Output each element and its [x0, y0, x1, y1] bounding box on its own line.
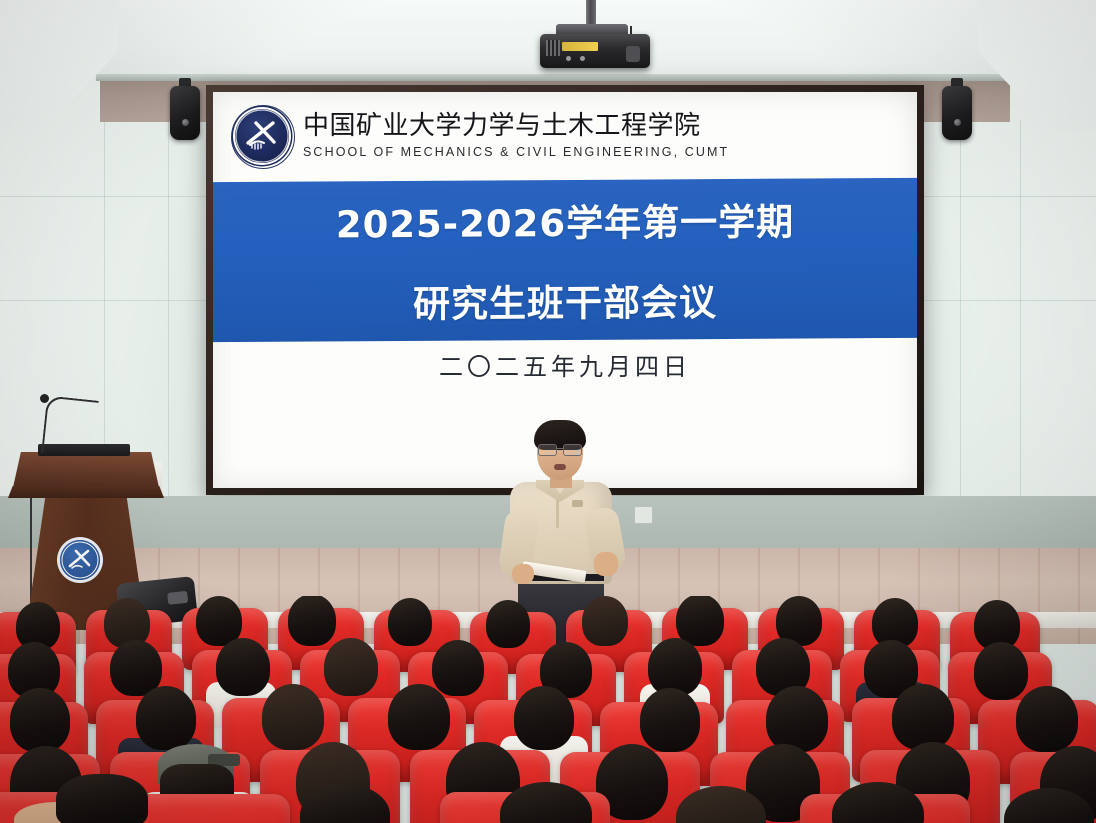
projector-lens — [626, 46, 640, 62]
slide-date: 二〇二五年九月四日 — [213, 347, 917, 382]
slide-title-line1: 2025-2026学年第一学期 — [336, 192, 794, 249]
microphone-head — [40, 394, 49, 403]
presenter-right-hand — [594, 552, 618, 576]
cumt-emblem-icon — [60, 540, 100, 580]
wall-outlet-plate — [634, 506, 653, 524]
organization-name-en: SCHOOL OF MECHANICS & CIVIL ENGINEERING,… — [303, 146, 729, 159]
presenter-shirt-placket — [556, 498, 559, 528]
audience-head — [892, 684, 954, 750]
wall-speaker-right-icon — [942, 86, 972, 140]
audience-head — [766, 686, 828, 752]
audience-head — [10, 688, 70, 752]
cumt-crest-icon — [235, 109, 289, 163]
slide-title-line2: 研究生班干部会议 — [413, 272, 717, 328]
audience-head — [288, 596, 336, 646]
audience-head — [582, 596, 628, 646]
wall-seam — [924, 196, 1096, 197]
projector-label — [562, 42, 598, 51]
audience-head — [486, 600, 530, 648]
wall-seam — [0, 196, 206, 197]
eyeglasses-icon — [538, 444, 582, 454]
audience-head — [216, 638, 270, 696]
wall-seam — [924, 300, 1096, 301]
audience-head — [1016, 686, 1078, 752]
wall-speaker-left-icon — [170, 86, 200, 140]
projector-indicator — [580, 56, 585, 61]
slide-header: 中国矿业大学力学与土木工程学院 SCHOOL OF MECHANICS & CI… — [213, 92, 917, 180]
soffit-lip — [96, 74, 1016, 81]
audience-head — [514, 686, 574, 750]
glasses-left-lens — [538, 444, 557, 456]
audience-head — [388, 684, 450, 750]
auditorium-photo: 中国矿业大学力学与土木工程学院 SCHOOL OF MECHANICS & CI… — [0, 0, 1096, 823]
projector-vent — [546, 40, 560, 56]
audience-head — [974, 642, 1028, 700]
organization-name-cn: 中国矿业大学力学与土木工程学院 — [303, 113, 729, 139]
audience-head — [262, 684, 324, 750]
glasses-right-lens — [563, 444, 582, 456]
podium-top-lip — [8, 486, 164, 498]
presenter-shirt-logo — [572, 500, 583, 507]
gooseneck-microphone-icon — [41, 395, 99, 458]
wall-seam — [1020, 120, 1021, 560]
audience-head — [640, 688, 700, 752]
slide-header-text: 中国矿业大学力学与土木工程学院 SCHOOL OF MECHANICS & CI… — [303, 113, 729, 159]
wall-seam — [0, 300, 206, 301]
presenter-left-hand — [512, 564, 534, 584]
audience-head — [648, 638, 702, 696]
wall-seam — [168, 120, 169, 560]
presenter-mouth — [554, 464, 566, 470]
ceiling-projector-icon — [540, 34, 650, 68]
audience-head — [388, 598, 432, 646]
slide-title-band: 2025-2026学年第一学期 研究生班干部会议 — [213, 178, 917, 342]
audience-head — [136, 686, 196, 750]
audience-head — [56, 774, 148, 823]
wall-seam — [960, 120, 961, 560]
projector-indicator — [566, 56, 571, 61]
audience-head — [324, 638, 378, 696]
audience-head — [432, 640, 484, 696]
audience-seating — [0, 596, 1096, 823]
